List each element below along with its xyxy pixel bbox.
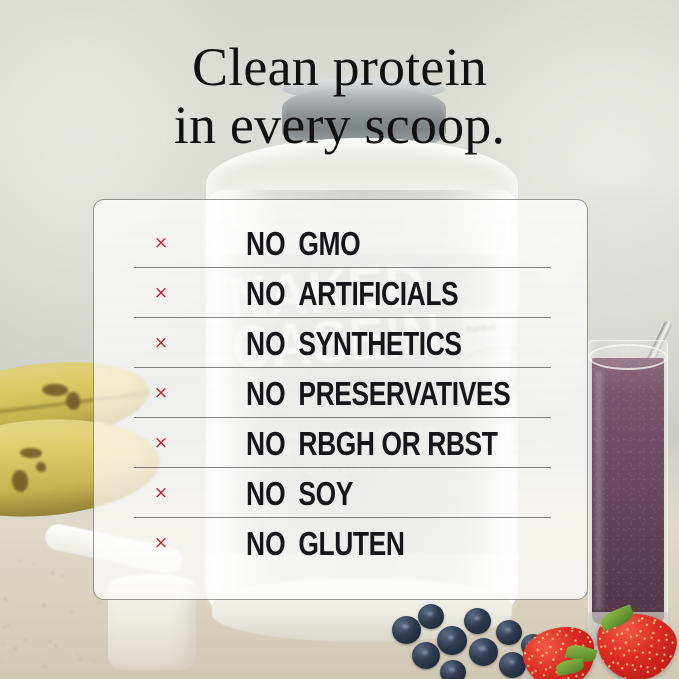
counter-speck [2, 643, 4, 645]
blueberry [464, 608, 491, 634]
banana-spot [36, 462, 46, 472]
glass-rim [588, 344, 668, 370]
claim-text: NOARTIFICIALS [246, 277, 458, 310]
claim-item: PRESERVATIVES [298, 377, 510, 410]
claim-text: NOPRESERVATIVES [246, 377, 510, 410]
cross-icon: × [150, 335, 172, 352]
claim-prefix: NO [246, 427, 286, 460]
claim-divider [134, 267, 551, 268]
blueberry [437, 626, 467, 655]
cross-icon: × [150, 235, 172, 252]
glass-highlight [596, 370, 605, 610]
counter-speck [51, 571, 54, 574]
counter-speck [19, 560, 20, 561]
claims-list: ×NOGMO×NOARTIFICIALS×NOSYNTHETICS×NOPRES… [94, 200, 587, 599]
claim-item: GLUTEN [298, 527, 404, 560]
claim-prefix: NO [246, 527, 286, 560]
cross-icon: × [150, 385, 172, 402]
claim-item: SYNTHETICS [298, 327, 461, 360]
counter-speck [43, 665, 46, 668]
counter-speck [79, 657, 83, 661]
claim-text: NORBGH OR RBST [246, 427, 497, 460]
claim-item: RBGH OR RBST [298, 427, 497, 460]
cross-icon: × [150, 435, 172, 452]
counter-speck [48, 640, 51, 643]
claim-divider [134, 467, 551, 468]
banana-spot [42, 384, 68, 396]
cross-icon: × [150, 485, 172, 502]
blueberry [440, 660, 466, 679]
claim-row: ×NOARTIFICIALS [94, 267, 588, 317]
claim-divider [134, 517, 551, 518]
counter-speck [87, 615, 88, 616]
claim-divider [134, 367, 551, 368]
claim-divider [134, 417, 551, 418]
banana-spot [20, 448, 42, 458]
claim-item: ARTIFICIALS [298, 277, 458, 310]
counter-speck [0, 661, 1, 662]
claim-text: NOSOY [246, 477, 353, 510]
claim-row: ×NOPRESERVATIVES [94, 367, 588, 417]
claim-item: GMO [298, 227, 360, 260]
claim-row: ×NOSOY [94, 467, 588, 517]
claim-prefix: NO [246, 327, 286, 360]
claim-text: NOSYNTHETICS [246, 327, 462, 360]
banana-spot [12, 470, 28, 492]
claim-row: ×NOGMO [94, 217, 588, 267]
counter-speck [42, 604, 45, 607]
claim-prefix: NO [246, 477, 286, 510]
counter-speck [14, 647, 17, 650]
blueberry [412, 642, 440, 669]
blueberry [418, 604, 444, 629]
claim-row: ×NOSYNTHETICS [94, 317, 588, 367]
claim-divider [134, 317, 551, 318]
page-title: Clean protein in every scoop. [0, 38, 679, 155]
blueberry [496, 620, 522, 645]
headline-line-2: in every scoop. [0, 96, 679, 154]
counter-speck [61, 575, 64, 578]
cross-icon: × [150, 285, 172, 302]
blueberry [469, 638, 498, 666]
banana-spot [66, 392, 80, 410]
smoothie-glass [588, 340, 668, 640]
cross-icon: × [150, 535, 172, 552]
claim-prefix: NO [246, 277, 286, 310]
product-marketing-image: NAKED CASEIN. 100% FROM MICELLAR CASEIN … [0, 0, 679, 679]
claim-item: SOY [298, 477, 353, 510]
counter-speck [4, 597, 7, 600]
claim-text: NOGMO [246, 227, 360, 260]
claim-prefix: NO [246, 377, 286, 410]
headline-line-1: Clean protein [0, 38, 679, 96]
blueberry [392, 616, 421, 644]
claim-row: ×NOGLUTEN [94, 517, 588, 567]
claim-row: ×NORBGH OR RBST [94, 417, 588, 467]
counter-speck [98, 601, 101, 604]
claim-prefix: NO [246, 227, 286, 260]
claim-text: NOGLUTEN [246, 527, 405, 560]
counter-speck [33, 563, 35, 565]
counter-speck [76, 653, 78, 655]
claims-panel: ×NOGMO×NOARTIFICIALS×NOSYNTHETICS×NOPRES… [93, 199, 588, 600]
counter-speck [3, 625, 6, 628]
